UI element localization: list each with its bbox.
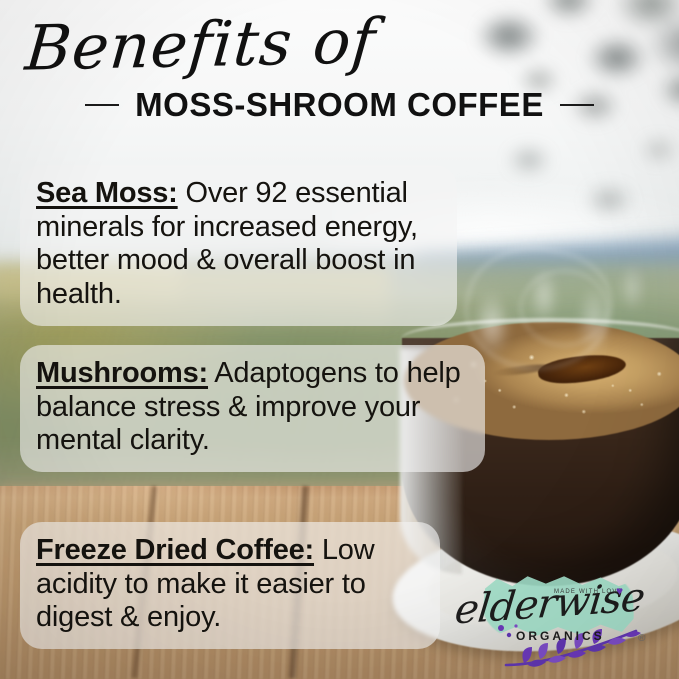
- registered-trademark-icon: ®: [638, 633, 645, 644]
- dash-right-icon: [560, 104, 594, 106]
- brand-logo: elderwise MADE WITH LOVE ♥ ORGANICS ®: [452, 567, 658, 671]
- heart-icon: ♥: [616, 585, 628, 597]
- benefit-text: Freeze Dried Coffee: Low acidity to make…: [36, 534, 424, 635]
- benefit-card-sea-moss: Sea Moss: Over 92 essential minerals for…: [20, 165, 457, 326]
- blurred-tree-branch: [489, 120, 679, 240]
- page-title-script: Benefits of: [23, 4, 379, 84]
- benefit-lead-label: Mushrooms:: [36, 357, 208, 389]
- subtitle-row: MOSS-SHROOM COFFEE: [0, 86, 679, 124]
- logo-subtitle: ORGANICS: [516, 629, 605, 643]
- page-subtitle: MOSS-SHROOM COFFEE: [135, 86, 544, 124]
- dash-left-icon: [85, 104, 119, 106]
- benefit-text: Sea Moss: Over 92 essential minerals for…: [36, 177, 441, 312]
- benefit-lead-label: Sea Moss:: [36, 177, 178, 209]
- benefit-text: Mushrooms: Adaptogens to help balance st…: [36, 357, 469, 458]
- infographic-card: Benefits of MOSS-SHROOM COFFEE Sea Moss:…: [0, 0, 679, 679]
- benefit-card-freeze-dried-coffee: Freeze Dried Coffee: Low acidity to make…: [20, 522, 440, 649]
- logo-tagline: MADE WITH LOVE: [554, 589, 623, 595]
- benefit-lead-label: Freeze Dried Coffee:: [36, 534, 314, 566]
- benefit-card-mushrooms: Mushrooms: Adaptogens to help balance st…: [20, 345, 485, 472]
- steam-swirl: [520, 270, 608, 346]
